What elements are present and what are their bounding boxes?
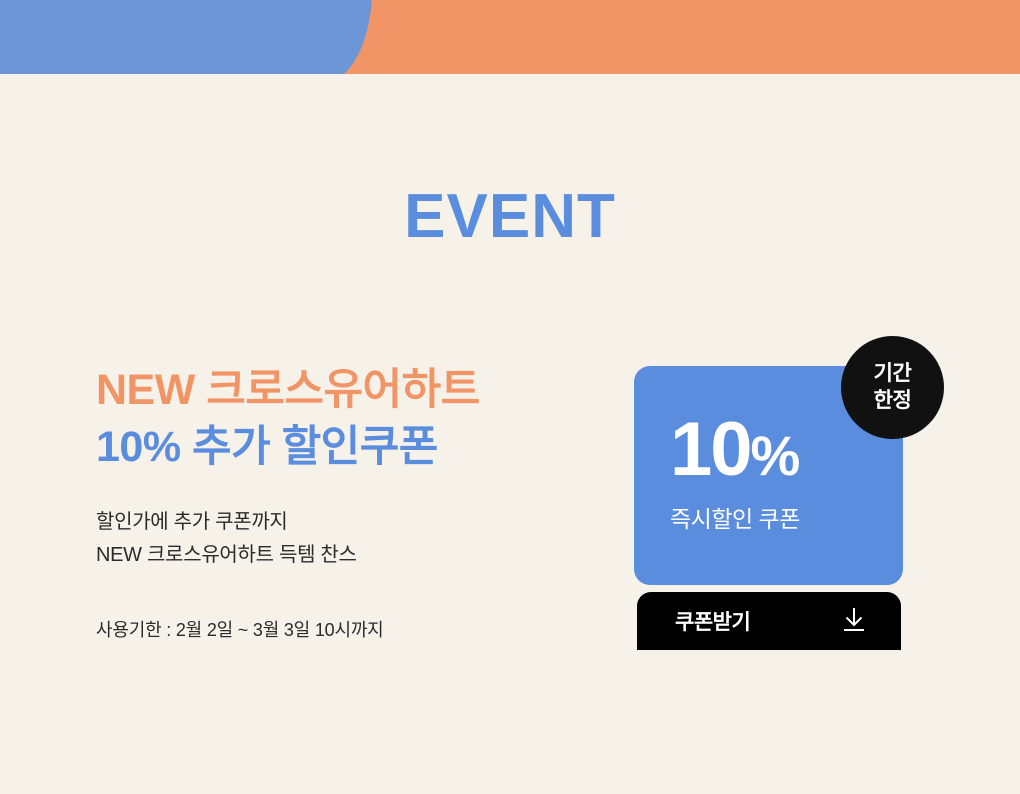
topbar-blue-block (0, 0, 372, 74)
badge-line-2: 한정 (874, 388, 912, 415)
coupon-label: 즉시할인 쿠폰 (670, 500, 903, 534)
promo-subcopy: 할인가에 추가 쿠폰까지 NEW 크로스유어하트 득템 찬스 (96, 506, 616, 572)
promo-copy-block: NEW 크로스유어하트 10% 추가 할인쿠폰 할인가에 추가 쿠폰까지 NEW… (96, 362, 616, 642)
subcopy-line-1: 할인가에 추가 쿠폰까지 (96, 506, 616, 539)
headline-line-2: 10% 추가 할인쿠폰 (96, 419, 616, 476)
headline-line-1: NEW 크로스유어하트 (96, 362, 616, 419)
coupon-amount-number: 10 (670, 407, 751, 492)
coupon-amount-symbol: % (751, 424, 800, 487)
get-coupon-button-label: 쿠폰받기 (675, 606, 750, 636)
validity-period: 사용기한 : 2월 2일 ~ 3월 3일 10시까지 (96, 616, 616, 642)
get-coupon-button[interactable]: 쿠폰받기 (637, 592, 901, 650)
subcopy-line-2: NEW 크로스유어하트 득템 찬스 (96, 539, 616, 572)
limited-time-badge: 기간 한정 (841, 336, 944, 439)
badge-line-1: 기간 (874, 361, 912, 388)
page-title: EVENT (0, 186, 1020, 248)
top-decorative-bar (0, 0, 1020, 74)
download-icon (841, 606, 867, 637)
coupon-module: 10% 즉시할인 쿠폰 기간 한정 쿠폰받기 (634, 366, 903, 585)
